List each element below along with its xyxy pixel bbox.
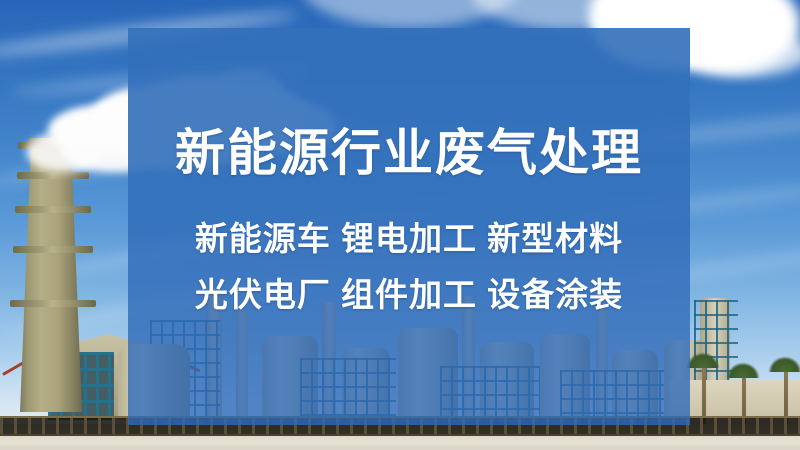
smokestack-band <box>15 206 91 213</box>
smokestack-band <box>13 246 93 253</box>
cumulus-cloud-icon <box>690 30 800 76</box>
smokestack-band <box>17 172 89 179</box>
subtitle-line-2: 光伏电厂 组件加工 设备涂装 <box>195 278 623 311</box>
subtitle-line-1: 新能源车 锂电加工 新型材料 <box>195 222 623 255</box>
hero-banner: 新能源行业废气处理 新能源车 锂电加工 新型材料 光伏电厂 组件加工 设备涂装 <box>0 0 800 450</box>
palm-trees <box>768 356 800 372</box>
palm-trees <box>686 352 720 368</box>
palm-trees <box>726 362 760 378</box>
smokestack-band <box>10 300 96 307</box>
page-title: 新能源行业废气处理 <box>175 128 643 178</box>
banner-text-block: 新能源行业废气处理 新能源车 锂电加工 新型材料 光伏电厂 组件加工 设备涂装 <box>128 28 690 425</box>
